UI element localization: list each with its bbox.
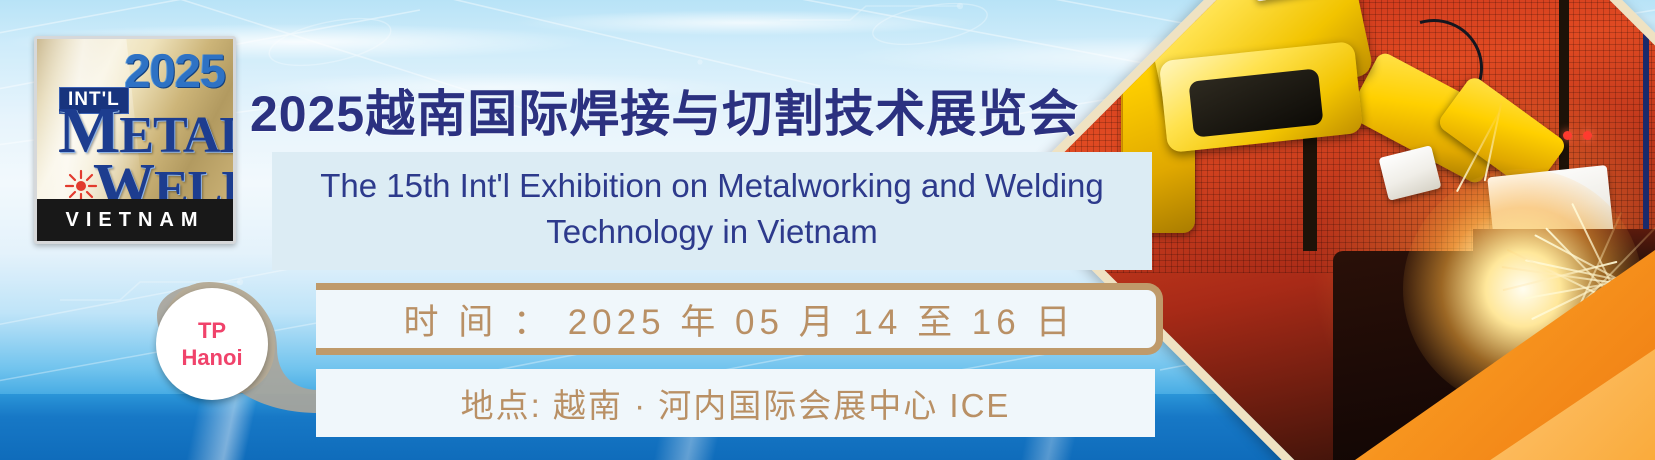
- badge-line-2: Hanoi: [181, 344, 242, 371]
- subtitle-line-1: The 15th Int'l Exhibition on Metalworkin…: [272, 163, 1152, 209]
- logo-year-text: 2025: [124, 43, 225, 98]
- badge-line-1: TP: [198, 317, 226, 344]
- tp-hanoi-badge: TP Hanoi: [156, 288, 268, 400]
- event-venue-text: 地点: 越南 · 河内国际会展中心 ICE: [316, 369, 1155, 437]
- exhibition-banner: 2025 INT'L METAL WELD VIETNAM 2025越南: [0, 0, 1655, 460]
- event-date-text: 时 间 ： 2025 年 05 月 14 至 16 日: [316, 283, 1163, 355]
- subtitle-line-2: Technology in Vietnam: [272, 209, 1152, 255]
- banner-subtitle: The 15th Int'l Exhibition on Metalworkin…: [272, 163, 1152, 255]
- banner-headline: 2025越南国际焊接与切割技术展览会: [250, 74, 1079, 146]
- logo-country-label: VIETNAM: [37, 199, 233, 241]
- metal-weld-vietnam-logo: 2025 INT'L METAL WELD VIETNAM: [34, 36, 236, 244]
